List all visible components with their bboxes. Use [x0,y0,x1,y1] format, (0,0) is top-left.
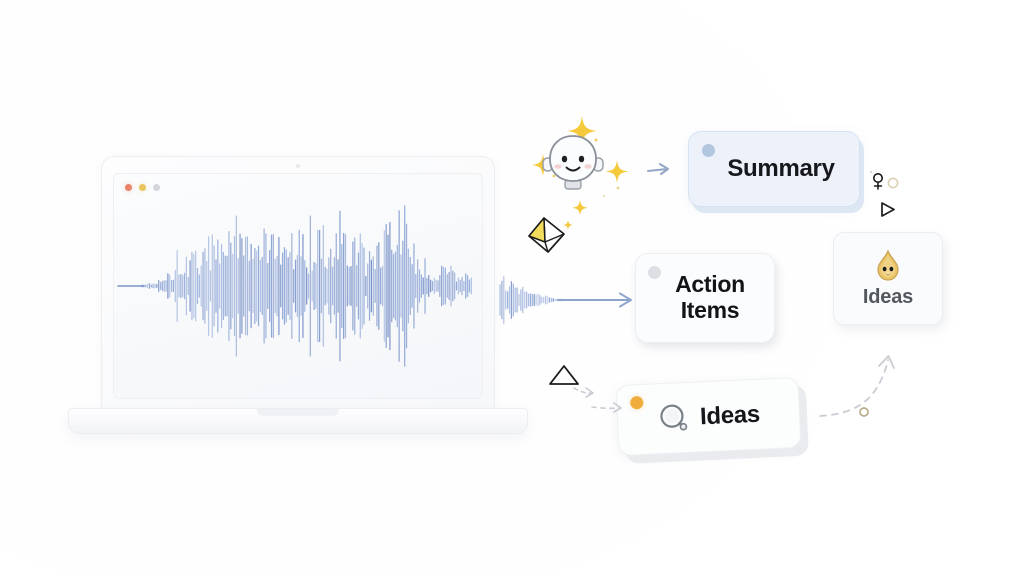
decor-cluster-right [868,170,916,230]
card-ideas-right[interactable]: Ideas [833,232,943,325]
card-summary-label: Summary [727,155,834,183]
origami-envelope-icon [524,214,572,258]
lightbulb-face-svg [871,249,905,283]
waveform-svg [114,201,483,371]
dashed-arrow-left-group [540,362,640,424]
laptop-base [68,408,528,434]
minimize-dot[interactable] [139,184,146,191]
decor-cluster-svg [868,170,916,230]
dashed-arrow-left-svg [540,362,640,424]
card-action-items-label: Action Items [675,272,745,324]
card-status-dot [702,144,715,157]
flow-arrow-svg [498,268,648,332]
card-ideas-bottom-label: Ideas [699,400,760,431]
card-label-line-1: Action [675,271,745,297]
illustration-scene: Summary Action Items Ideas [0,0,1024,576]
dashed-curve-svg [818,336,918,428]
envelope-svg [524,214,572,258]
magnifier-svg [656,400,692,436]
laptop-camera-icon [296,164,300,168]
card-summary[interactable]: Summary [688,131,860,207]
audio-waveform [114,201,482,371]
dashed-curved-arrow-icon [818,336,918,428]
laptop-screen [113,173,483,399]
card-label-line-2: Items [681,297,740,323]
card-ideas-bottom[interactable]: Ideas [615,377,801,456]
lightbulb-face-emoji-icon [871,249,905,283]
chevron-arrow-svg [645,160,673,180]
ai-robot-icon [540,132,606,196]
waveform-flow-arrow [498,268,648,332]
laptop-lid [101,156,495,410]
close-dot[interactable] [125,184,132,191]
card-ideas-right-label: Ideas [863,286,913,309]
maximize-dot[interactable] [153,184,160,191]
laptop-trackpad-notch [257,409,339,416]
window-traffic-lights [125,184,160,191]
chevron-arrow-right-icon [645,160,673,180]
card-action-items[interactable]: Action Items [635,253,775,343]
card-status-dot [648,266,661,279]
magnifier-icon [656,400,692,436]
robot-svg [540,132,606,196]
laptop-device [68,156,528,451]
